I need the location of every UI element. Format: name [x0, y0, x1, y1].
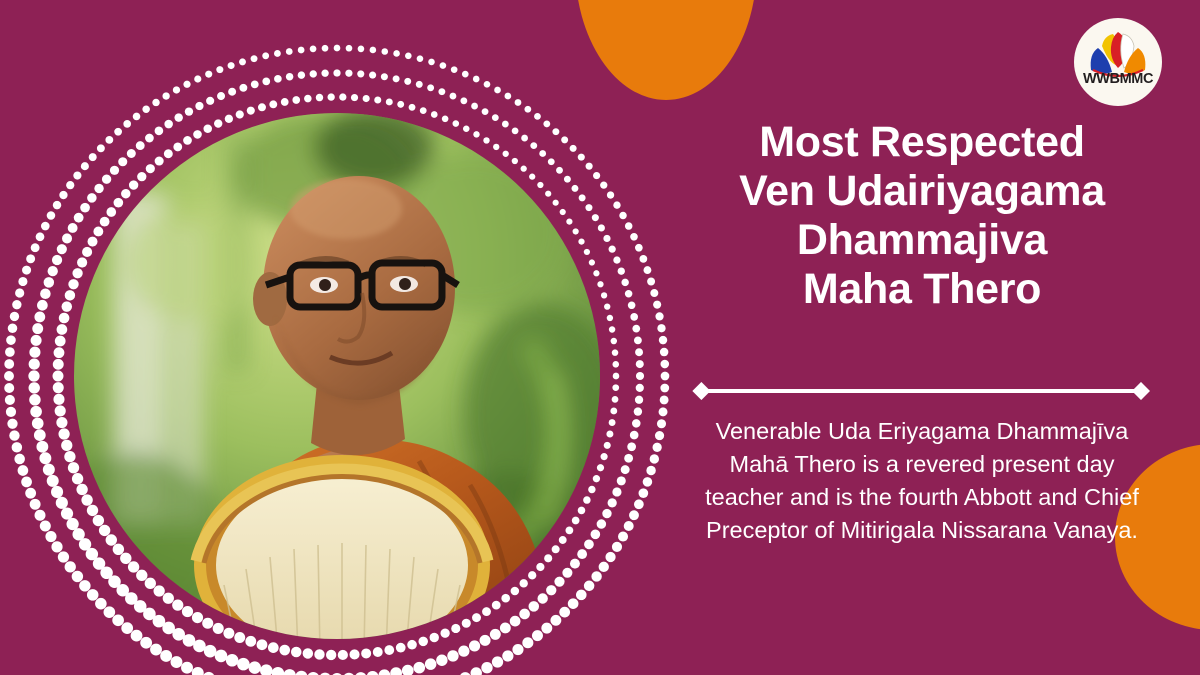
- title-line-1: Most Respected: [672, 118, 1172, 167]
- poster-canvas: Most Respected Ven Udairiyagama Dhammaji…: [0, 0, 1200, 675]
- title-line-3: Dhammajiva: [672, 216, 1172, 265]
- page-title: Most Respected Ven Udairiyagama Dhammaji…: [672, 118, 1172, 314]
- logo-acronym: WWBMMC: [1074, 71, 1162, 87]
- monk-portrait-photo: [74, 113, 600, 639]
- wwbmmc-logo: WWBMMC: [1074, 18, 1162, 106]
- description-text: Venerable Uda Eriyagama Dhammajīva Mahā …: [688, 415, 1156, 547]
- title-line-2: Ven Udairiyagama: [672, 167, 1172, 216]
- lotus-icon: [1074, 18, 1162, 106]
- title-line-4: Maha Thero: [672, 265, 1172, 314]
- diamond-divider: [692, 382, 1150, 400]
